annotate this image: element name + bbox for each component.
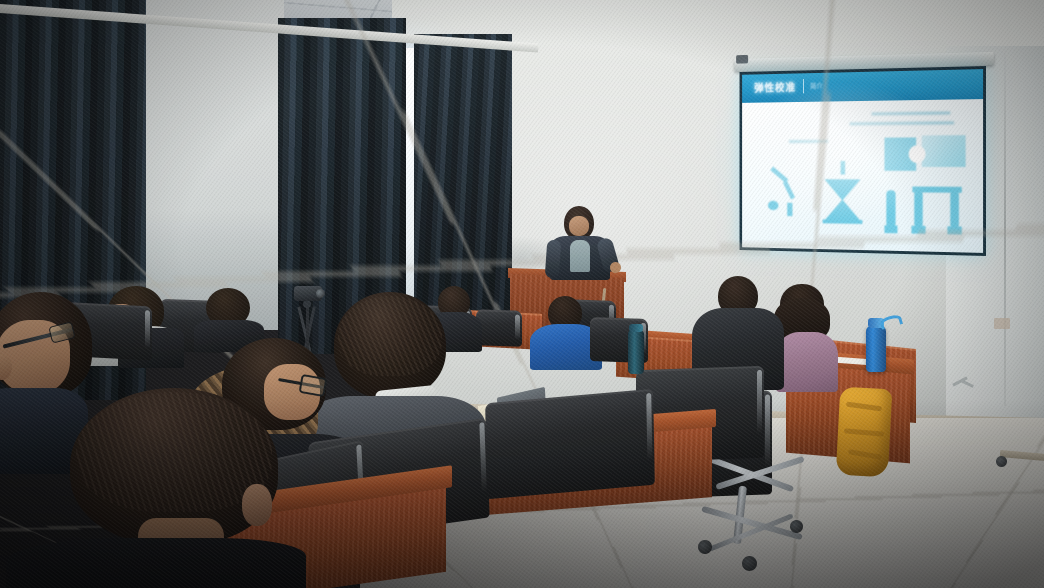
lecture-room-photo: 弹性校准 简介 <box>0 0 1044 588</box>
purple-sweater <box>776 332 838 392</box>
chair-castor <box>698 540 712 554</box>
presenter-shirt <box>570 240 590 272</box>
presenter-arm-left <box>545 240 562 279</box>
presenter-hand <box>610 262 621 273</box>
presenter-face <box>569 216 589 236</box>
chair <box>485 389 655 500</box>
audience-member-foreground-head <box>46 388 296 588</box>
chair <box>476 309 522 347</box>
thermos-cap <box>629 324 643 332</box>
teal-thermos <box>628 330 644 374</box>
chair-castor <box>790 520 803 533</box>
ear <box>242 484 272 526</box>
floor-object <box>996 456 1007 467</box>
chair-castor <box>742 556 757 571</box>
tripod-head <box>303 300 311 308</box>
blue-water-bottle <box>866 326 886 372</box>
dark-jacket <box>6 538 306 588</box>
presenter <box>548 206 612 278</box>
